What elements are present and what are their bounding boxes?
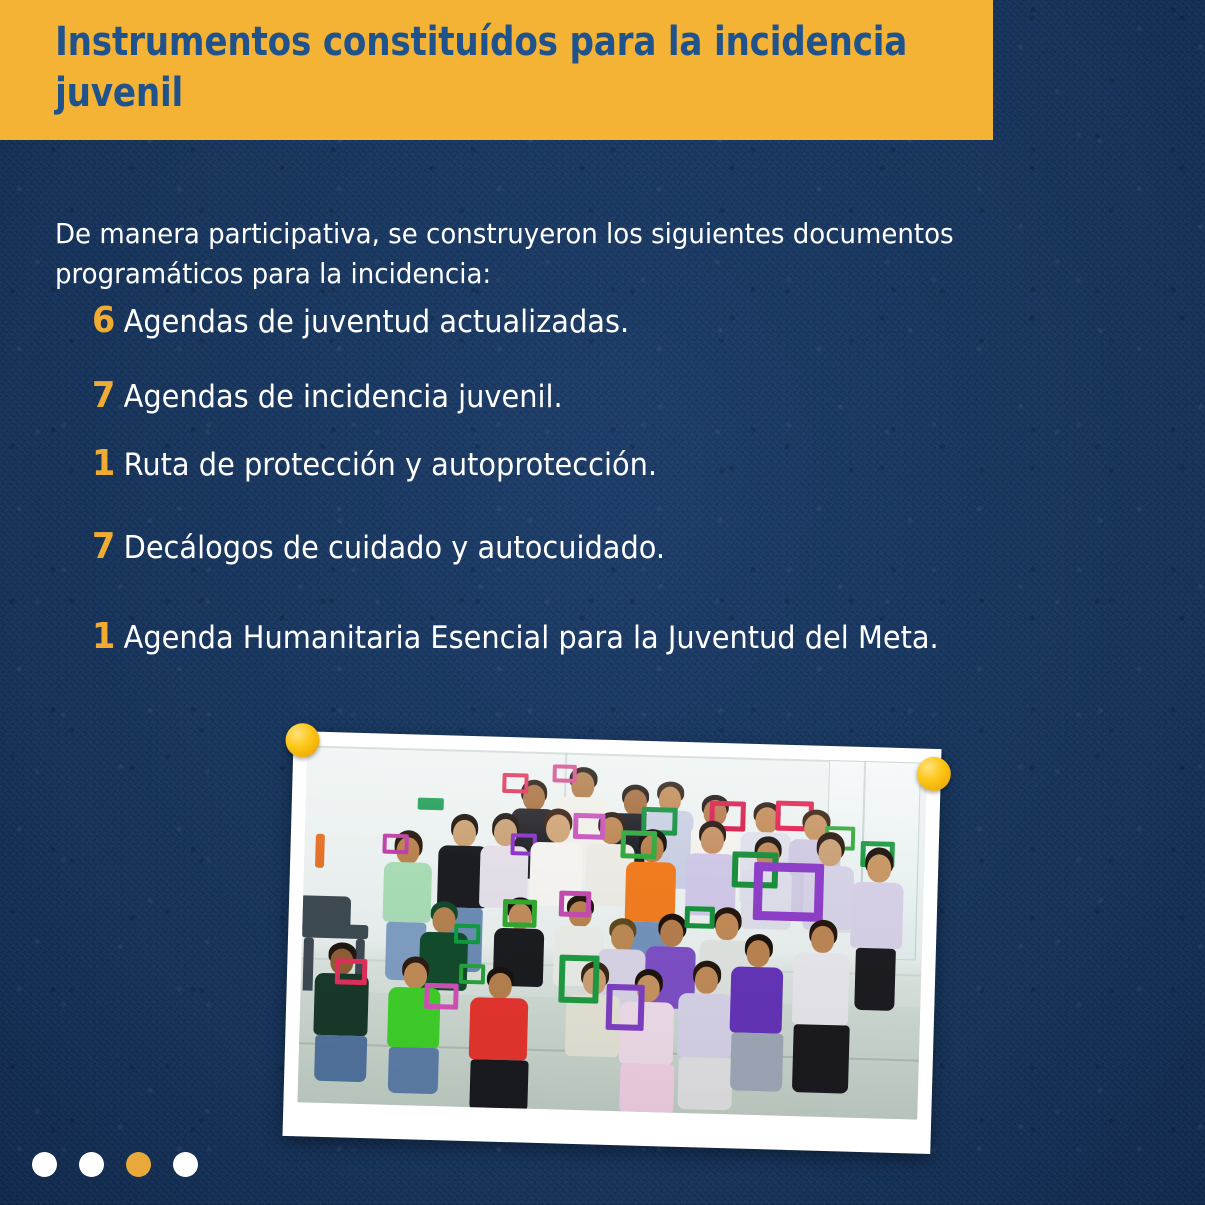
list-item-number: 1 [92,616,124,657]
title-banner: Instrumentos constituídos para la incide… [0,0,993,140]
pagination-dot-2[interactable] [79,1152,104,1177]
slide-canvas: Instrumentos constituídos para la incide… [0,0,1205,1205]
pagination-dot-4[interactable] [173,1152,198,1177]
pagination[interactable] [32,1152,198,1177]
list-item-label: Agendas de juventud actualizadas. [124,305,1087,341]
page-title: Instrumentos constituídos para la incide… [0,17,943,123]
list-item-label: Decálogos de cuidado y autocuidado. [124,531,1087,567]
exit-sign-icon [418,798,444,811]
list-item: 6 Agendas de juventud actualizadas. [92,300,1087,341]
group-photo [297,745,927,1119]
instruments-list: 6 Agendas de juventud actualizadas. 7 Ag… [92,300,1162,657]
list-item-label: Ruta de protección y autoprotección. [124,448,1087,484]
list-item-number: 7 [92,375,124,416]
list-item: 7 Decálogos de cuidado y autocuidado. [92,526,1087,567]
list-item-label: Agenda Humanitaria Esencial para la Juve… [124,621,1087,657]
list-item-number: 7 [92,526,124,567]
list-item-number: 6 [92,300,124,341]
intro-paragraph: De manera participativa, se construyeron… [55,214,1041,294]
fire-extinguisher-icon [315,834,325,868]
list-item: 7 Agendas de incidencia juvenil. [92,375,1087,416]
pagination-dot-3-active[interactable] [126,1152,151,1177]
list-item: 1 Agenda Humanitaria Esencial para la Ju… [92,616,1087,657]
list-item-label: Agendas de incidencia juvenil. [124,380,1087,416]
list-item: 1 Ruta de protección y autoprotección. [92,443,1087,484]
pagination-dot-1[interactable] [32,1152,57,1177]
photo-card [282,731,941,1154]
photo-frame-prop-large [753,862,825,922]
list-item-number: 1 [92,443,124,484]
